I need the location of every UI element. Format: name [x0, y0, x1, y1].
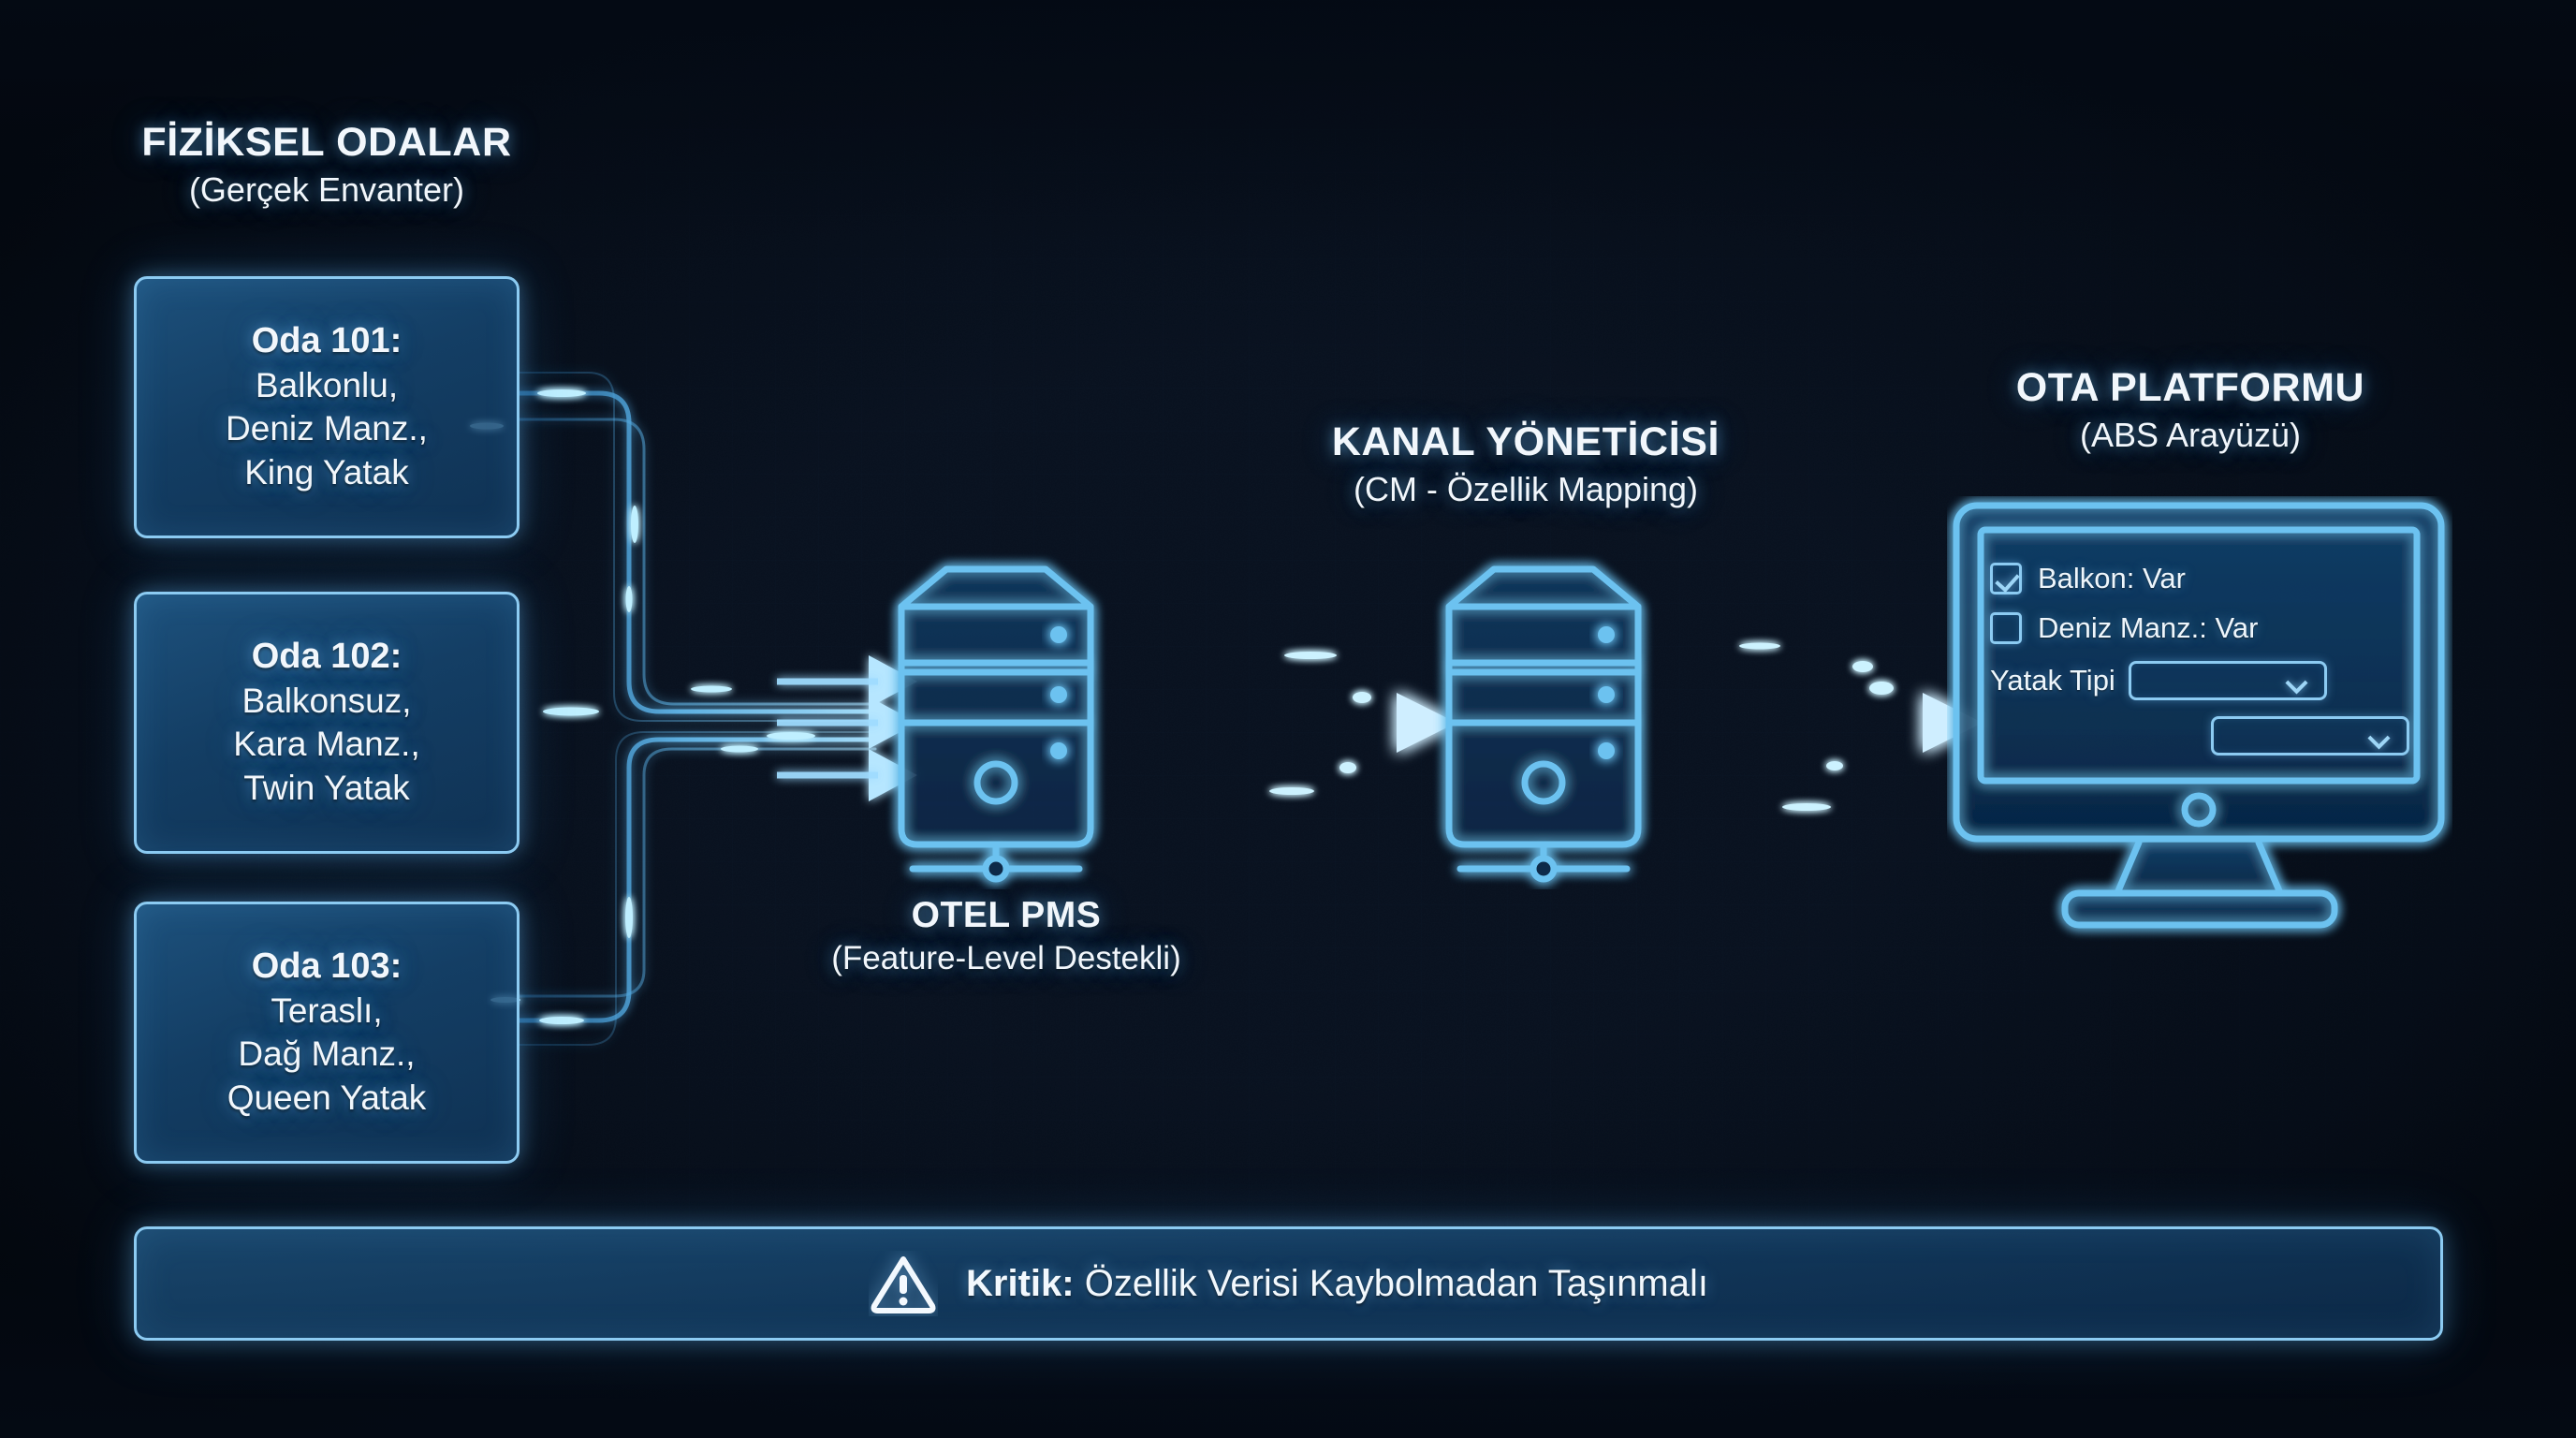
checkbox-checked-icon[interactable] [1990, 563, 2022, 594]
room-feature-line: Twin Yatak [243, 767, 410, 811]
diagram-canvas: FİZİKSEL ODALAR (Gerçek Envanter) Oda 10… [0, 0, 2576, 1438]
banner-text: Özellik Verisi Kaybolmadan Taşınmalı [1075, 1263, 1708, 1304]
room-feature-line: Deniz Manz., [226, 407, 428, 451]
room-feature-line: Kara Manz., [233, 723, 419, 767]
ota-form: Balkon: Var Deniz Manz.: Var Yatak Tipi [1990, 562, 2411, 771]
room-card-101[interactable]: Oda 101: Balkonlu, Deniz Manz., King Yat… [134, 276, 520, 538]
room-feature-line: King Yatak [244, 451, 409, 495]
pms-subtitle: (Feature-Level Destekli) [744, 940, 1268, 978]
checkbox-label: Balkon: Var [2038, 562, 2186, 595]
cm-heading-title: KANAL YÖNETİCİSİ [1236, 419, 1816, 465]
server-tower-icon[interactable] [1423, 552, 1685, 889]
select-row-secondary[interactable] [2211, 716, 2411, 756]
cm-heading-subtitle: (CM - Özellik Mapping) [1236, 470, 1816, 508]
cm-column-heading: KANAL YÖNETİCİSİ (CM - Özellik Mapping) [1236, 419, 1816, 508]
checkbox-row-balkon[interactable]: Balkon: Var [1990, 562, 2411, 595]
room-title: Oda 103: [252, 946, 402, 988]
critical-warning-banner: Kritik: Özellik Verisi Kaybolmadan Taşın… [134, 1226, 2443, 1341]
ota-heading-title: OTA PLATFORMU [1928, 365, 2452, 411]
room-feature-line: Balkonsuz, [242, 680, 412, 724]
pms-title: OTEL PMS [744, 894, 1268, 936]
room-feature-line: Teraslı, [271, 990, 382, 1034]
yatak-tipi-select[interactable] [2129, 661, 2327, 700]
room-feature-line: Queen Yatak [227, 1077, 427, 1121]
rooms-heading-title: FİZİKSEL ODALAR [134, 120, 520, 166]
room-feature-line: Balkonlu, [256, 364, 398, 408]
banner-prefix: Kritik: [966, 1263, 1075, 1304]
secondary-select[interactable] [2211, 716, 2409, 756]
select-label: Yatak Tipi [1990, 664, 2115, 697]
checkbox-unchecked-icon[interactable] [1990, 612, 2022, 644]
ota-column-heading: OTA PLATFORMU (ABS Arayüzü) [1928, 365, 2452, 454]
checkbox-row-deniz-manzara[interactable]: Deniz Manz.: Var [1990, 611, 2411, 645]
room-feature-line: Dağ Manz., [238, 1033, 415, 1077]
ota-heading-subtitle: (ABS Arayüzü) [1928, 416, 2452, 454]
room-title: Oda 102: [252, 636, 402, 678]
select-row-yatak-tipi[interactable]: Yatak Tipi [1990, 661, 2411, 700]
room-card-102[interactable]: Oda 102: Balkonsuz, Kara Manz., Twin Yat… [134, 592, 520, 854]
checkbox-label: Deniz Manz.: Var [2038, 611, 2258, 645]
rooms-heading-subtitle: (Gerçek Envanter) [134, 170, 520, 209]
banner-message: Kritik: Özellik Verisi Kaybolmadan Taşın… [966, 1263, 1708, 1305]
warning-triangle-icon [869, 1251, 938, 1316]
flow-pms-to-cm [1086, 652, 1456, 795]
flow-cm-to-ota [1633, 643, 1983, 812]
room-card-103[interactable]: Oda 103: Teraslı, Dağ Manz., Queen Yatak [134, 902, 520, 1164]
server-tower-icon[interactable] [875, 552, 1137, 889]
pms-caption: OTEL PMS (Feature-Level Destekli) [744, 894, 1268, 978]
rooms-column-heading: FİZİKSEL ODALAR (Gerçek Envanter) [134, 120, 520, 209]
room-title: Oda 101: [252, 320, 402, 362]
